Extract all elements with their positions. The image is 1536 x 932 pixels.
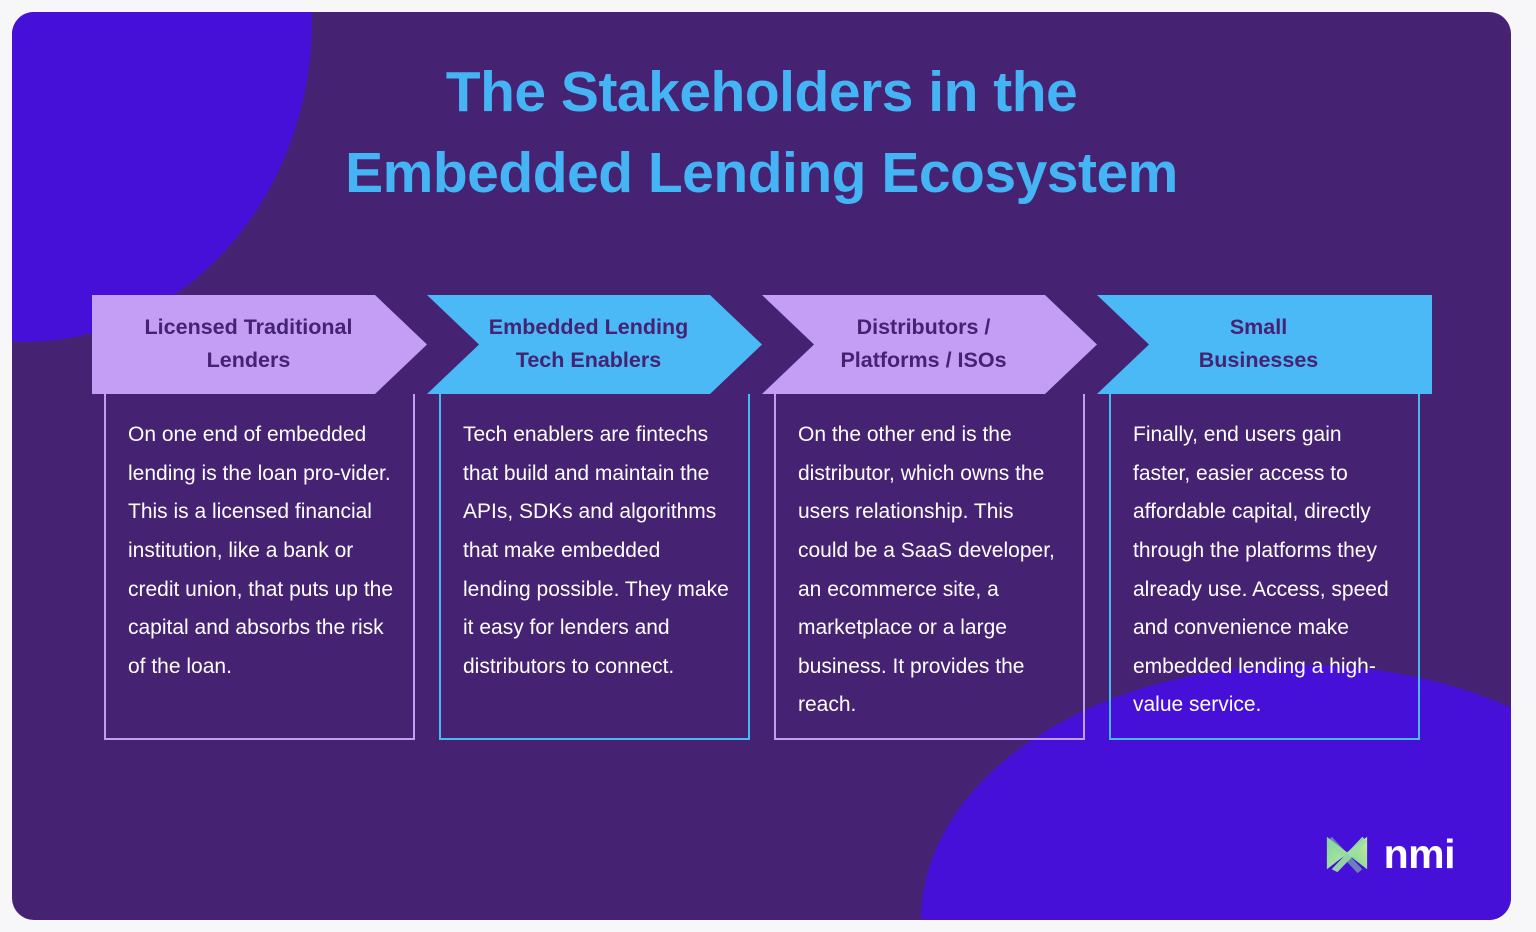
chevron-header-3[interactable]: Distributors / Platforms / ISOs bbox=[762, 295, 1097, 394]
stakeholder-column-2: Embedded Lending Tech Enablers Tech enab… bbox=[427, 283, 762, 743]
stakeholder-column-1: Licensed Traditional Lenders On one end … bbox=[92, 283, 427, 743]
stakeholder-body-2: Tech enablers are fintechs that build an… bbox=[439, 394, 750, 740]
nmi-wordmark: nmi bbox=[1384, 834, 1455, 875]
stakeholder-body-1: On one end of embedded lending is the lo… bbox=[104, 394, 415, 740]
stakeholder-body-3-text: On the other end is the distributor, whi… bbox=[798, 416, 1065, 725]
chevron-header-1-label: Licensed Traditional Lenders bbox=[92, 311, 427, 379]
infographic-card: The Stakeholders in the Embedded Lending… bbox=[12, 12, 1511, 920]
page-title: The Stakeholders in the Embedded Lending… bbox=[12, 52, 1511, 214]
stakeholder-body-4: Finally, end users gain faster, easier a… bbox=[1109, 394, 1420, 740]
chevron-header-4[interactable]: Small Businesses bbox=[1097, 295, 1432, 394]
page-title-line-1: The Stakeholders in the bbox=[12, 52, 1511, 133]
stakeholder-body-1-text: On one end of embedded lending is the lo… bbox=[128, 416, 395, 686]
stakeholder-body-3: On the other end is the distributor, whi… bbox=[774, 394, 1085, 740]
chevron-header-4-label: Small Businesses bbox=[1097, 311, 1432, 379]
nmi-logo[interactable]: nmi bbox=[1324, 830, 1455, 876]
chevron-header-1[interactable]: Licensed Traditional Lenders bbox=[92, 295, 427, 394]
chevron-header-2[interactable]: Embedded Lending Tech Enablers bbox=[427, 295, 762, 394]
stakeholder-column-4: Small Businesses Finally, end users gain… bbox=[1097, 283, 1432, 743]
stakeholder-column-3: Distributors / Platforms / ISOs On the o… bbox=[762, 283, 1097, 743]
stakeholder-body-4-text: Finally, end users gain faster, easier a… bbox=[1133, 416, 1400, 725]
stakeholder-flow: Licensed Traditional Lenders On one end … bbox=[92, 283, 1432, 743]
nmi-butterfly-mark-icon bbox=[1324, 830, 1370, 876]
chevron-header-2-label: Embedded Lending Tech Enablers bbox=[427, 311, 762, 379]
page-title-line-2: Embedded Lending Ecosystem bbox=[12, 133, 1511, 214]
stakeholder-body-2-text: Tech enablers are fintechs that build an… bbox=[463, 416, 730, 686]
chevron-header-3-label: Distributors / Platforms / ISOs bbox=[762, 311, 1097, 379]
